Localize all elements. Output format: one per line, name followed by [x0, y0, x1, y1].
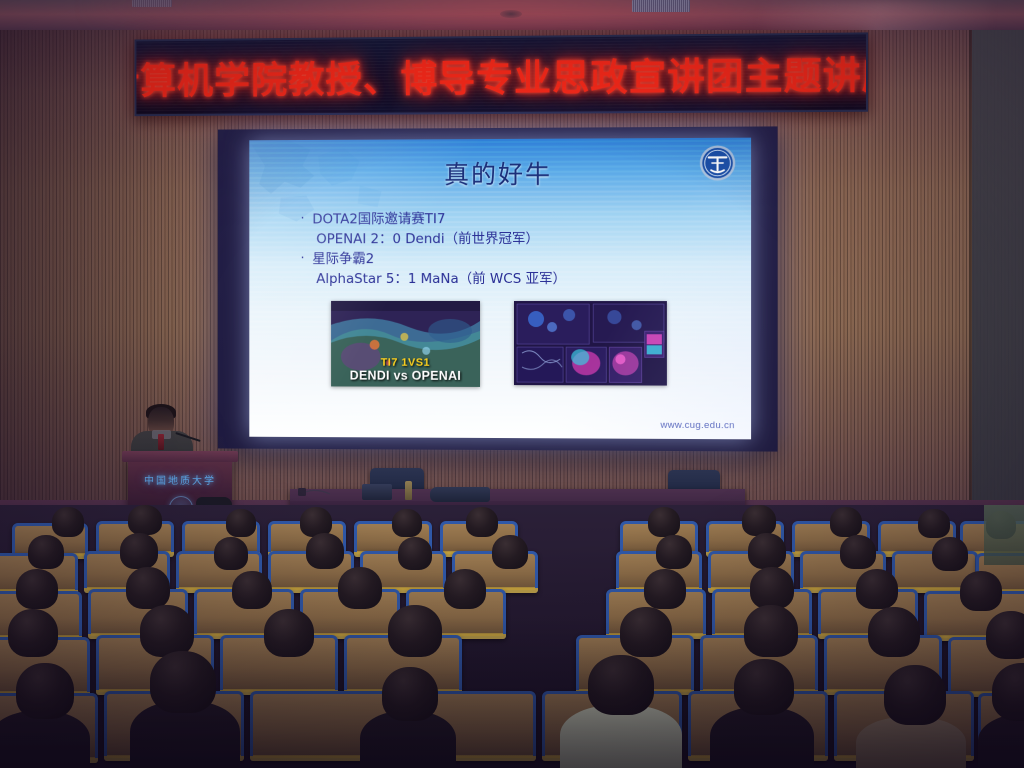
ceiling-lamp-icon: [500, 10, 522, 18]
audience-head: [16, 663, 74, 719]
bag-icon: [430, 487, 490, 502]
dota2-caption: TI7 1VS1 DENDI vs OPENAI: [331, 357, 480, 383]
slide-image-row: TI7 1VS1 DENDI vs OPENAI: [249, 301, 751, 392]
slide-footer-url: www.cug.edu.cn: [660, 420, 734, 431]
audience-head: [126, 567, 170, 609]
water-bottle-icon: [405, 481, 412, 500]
ceiling-vent-secondary-icon: [132, 0, 172, 7]
audience-head: [840, 535, 876, 569]
lectern-top: [122, 451, 238, 462]
audience-head: [932, 537, 968, 571]
audience-head: [128, 505, 162, 535]
audience-head: [120, 533, 158, 569]
audience-head: [620, 607, 672, 657]
lecture-hall-photo: 计算机学院教授、博导专业思政宣讲团主题讲座 真的好牛: [0, 0, 1024, 768]
bullet-item: · DOTA2国际邀请赛TI7: [300, 208, 720, 229]
alphastar-panels-graphic: [514, 301, 667, 386]
audience-head: [492, 535, 528, 569]
led-banner: 计算机学院教授、博导专业思政宣讲团主题讲座: [134, 32, 868, 116]
led-banner-text: 计算机学院教授、博导专业思政宣讲团主题讲座: [134, 44, 868, 104]
bullet-item: · 星际争霸2: [300, 249, 720, 269]
presentation-slide: 真的好牛 · DOTA2国际邀请赛TI7 OPENAI 2：0 Dendi（前世…: [249, 138, 751, 440]
audience-head: [16, 569, 58, 609]
audience-head: [644, 569, 686, 609]
audience-head: [648, 507, 680, 537]
audience-head: [338, 567, 382, 609]
audience-head: [150, 651, 216, 713]
bullet-line-secondary: AlphaStar 5：1 MaNa（前 WCS 亚军）: [300, 269, 720, 289]
audience-head: [264, 609, 314, 657]
dota2-ti7-match-screenshot: TI7 1VS1 DENDI vs OPENAI: [331, 301, 480, 387]
audience-head: [382, 667, 438, 721]
audience-head: [398, 537, 432, 570]
right-side-wall-panel: [972, 30, 1024, 535]
audience-head: [742, 505, 776, 536]
bullet-marker-icon: ·: [300, 249, 312, 269]
audience-head: [830, 507, 862, 537]
dota2-caption-bottom: DENDI vs OPENAI: [331, 369, 480, 383]
lectern-institution-text: 中国地质大学: [128, 472, 232, 487]
audience-head: [986, 611, 1024, 659]
bullet-marker-icon: ·: [300, 210, 312, 230]
alphastar-visualization-screenshot: [514, 301, 667, 386]
side-aisle-wall: [984, 505, 1024, 565]
audience-head: [744, 605, 798, 657]
speaker-tie: [158, 434, 164, 450]
audience-head: [226, 509, 256, 537]
ceiling-vent-icon: [632, 0, 690, 12]
slide-bullet-list: · DOTA2国际邀请赛TI7 OPENAI 2：0 Dendi（前世界冠军） …: [300, 208, 720, 289]
audience-head: [140, 605, 194, 657]
audience-head: [52, 507, 84, 537]
audience-head: [28, 535, 64, 569]
audience-shoulders: [0, 711, 90, 768]
bullet-line-secondary: OPENAI 2：0 Dendi（前世界冠军）: [300, 229, 720, 250]
audience-shoulders: [710, 707, 814, 768]
audience-head: [918, 509, 950, 538]
audience-head: [444, 569, 486, 609]
laptop-icon: [362, 484, 392, 500]
audience-head: [214, 537, 248, 570]
audience-head: [306, 533, 344, 569]
audience-head: [748, 533, 786, 569]
audience-head: [856, 569, 898, 609]
audience-head: [884, 665, 946, 725]
audience-head: [392, 509, 422, 537]
audience-head: [750, 567, 794, 609]
dota2-caption-top: TI7 1VS1: [331, 357, 480, 369]
audience-head: [656, 535, 692, 569]
bullet-line-primary: 星际争霸2: [312, 249, 374, 269]
audience-seating: [0, 505, 1024, 768]
audience-head: [960, 571, 1002, 611]
audience-head: [388, 605, 442, 657]
microphone-icon: [296, 486, 332, 500]
audience-head: [232, 571, 272, 609]
audience-head: [868, 607, 920, 657]
slide-title: 真的好牛: [249, 154, 751, 192]
audience-head: [466, 507, 498, 537]
cug-university-logo-icon: [698, 144, 737, 182]
projection-screen: 真的好牛 · DOTA2国际邀请赛TI7 OPENAI 2：0 Dendi（前世…: [218, 126, 778, 451]
audience-head: [734, 659, 794, 715]
audience-head: [8, 609, 58, 657]
bullet-line-primary: DOTA2国际邀请赛TI7: [312, 209, 445, 229]
audience-head: [588, 655, 654, 715]
